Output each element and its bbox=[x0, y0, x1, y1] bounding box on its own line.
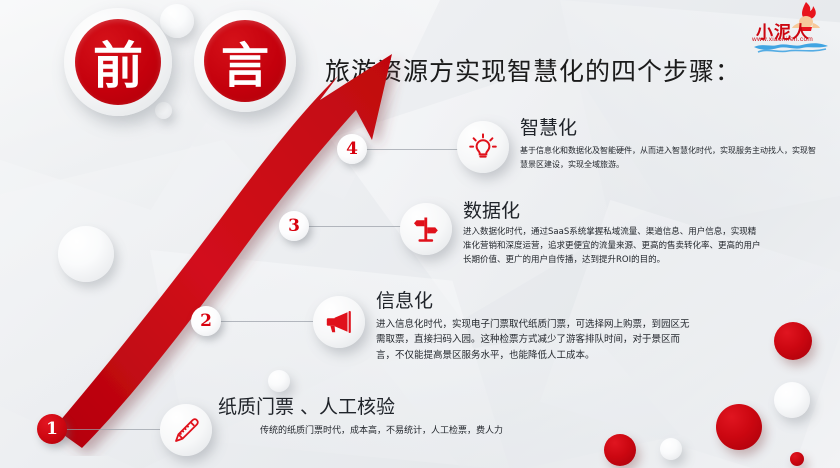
step-text-2: 信息化 进入信息化时代，实现电子门票取代纸质门票，可选择网上购票，到园区无需取票… bbox=[376, 286, 706, 363]
step-badge-4[interactable]: 4 bbox=[337, 134, 367, 164]
decorative-sphere-white bbox=[160, 4, 194, 38]
step-text-3: 数据化 进入数据化时代，通过SaaS系统掌握私域流量、渠道信息、用户信息，实现精… bbox=[463, 196, 773, 267]
step-badge-3[interactable]: 3 bbox=[279, 211, 309, 241]
connector-line-1 bbox=[64, 429, 164, 430]
step-icon-circle-4[interactable] bbox=[457, 121, 509, 173]
decorative-sphere-white bbox=[660, 438, 682, 460]
step-desc-3: 进入数据化时代，通过SaaS系统掌握私域流量、渠道信息、用户信息，实现精准化营销… bbox=[463, 226, 763, 267]
signpost-icon bbox=[412, 215, 440, 243]
step-icon-circle-1[interactable] bbox=[160, 404, 212, 456]
step-title-3: 数据化 bbox=[463, 196, 773, 223]
connector-line-2 bbox=[219, 321, 315, 322]
step-badge-2[interactable]: 2 bbox=[191, 306, 221, 336]
lightbulb-icon bbox=[469, 133, 497, 161]
slide-canvas: 前 言 旅游资源方实现智慧化的四个步骤： 小泥人 www.xiaoniren.c… bbox=[0, 0, 840, 468]
decorative-sphere-red bbox=[604, 434, 636, 466]
step-title-2: 信息化 bbox=[376, 286, 706, 313]
decorative-sphere-red bbox=[716, 404, 762, 450]
step-title-4: 智慧化 bbox=[520, 113, 830, 140]
connector-line-3 bbox=[307, 226, 403, 227]
step-desc-1: 传统的纸质门票时代，成本高，不易统计，人工检票，费人力 bbox=[260, 424, 503, 439]
decorative-sphere-white bbox=[774, 382, 810, 418]
pencil-icon bbox=[172, 416, 200, 444]
step-text-1: 纸质门票 、人工核验 传统的纸质门票时代，成本高，不易统计，人工检票，费人力 bbox=[218, 392, 503, 439]
step-icon-circle-2[interactable] bbox=[313, 296, 365, 348]
wave-icon bbox=[752, 43, 830, 54]
step-icon-circle-3[interactable] bbox=[400, 203, 452, 255]
step-title-1: 纸质门票 、人工核验 bbox=[218, 392, 503, 419]
logo-url: www.xiaoniren.com bbox=[752, 36, 813, 43]
step-desc-2: 进入信息化时代，实现电子门票取代纸质门票，可选择网上购票，到园区无需取票，直接扫… bbox=[376, 317, 694, 363]
megaphone-icon bbox=[325, 308, 353, 336]
step-desc-4: 基于信息化和数据化及智能硬件，从而进入智慧化时代，实现服务主动找人，实现智慧景区… bbox=[520, 144, 816, 171]
connector-line-4 bbox=[365, 149, 459, 150]
step-badge-1[interactable]: 1 bbox=[37, 414, 67, 444]
step-text-4: 智慧化 基于信息化和数据化及智能硬件，从而进入智慧化时代，实现服务主动找人，实现… bbox=[520, 113, 830, 171]
brand-logo: 小泥人 www.xiaoniren.com bbox=[748, 2, 834, 52]
decorative-sphere-red bbox=[790, 452, 804, 466]
decorative-sphere-red bbox=[774, 322, 812, 360]
